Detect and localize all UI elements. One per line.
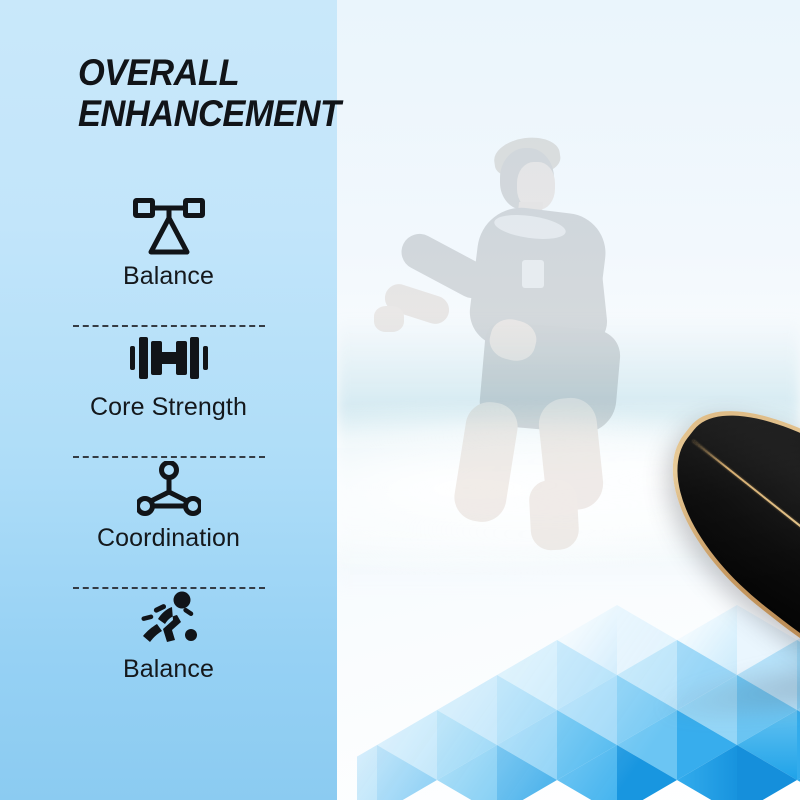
balance-board <box>637 355 800 755</box>
feature-item-core-strength: Core Strength <box>0 327 337 456</box>
surfer-left-hand <box>374 306 404 332</box>
left-info-panel: OVERALL ENHANCEMENT Balance <box>0 0 337 800</box>
title-line-2: ENHANCEMENT <box>78 93 311 134</box>
running-figure-icon <box>139 589 199 651</box>
feature-label: Balance <box>123 655 214 684</box>
molecule-node-icon <box>137 458 201 520</box>
page-title: OVERALL ENHANCEMENT <box>78 52 311 135</box>
feature-list: Balance Core St <box>0 196 337 718</box>
feature-item-coordination: Coordination <box>0 458 337 587</box>
surfer-left-leg <box>451 399 521 526</box>
feature-item-balance: Balance <box>0 196 337 325</box>
feature-label: Core Strength <box>90 393 247 422</box>
balance-scale-icon <box>132 196 206 258</box>
poster-canvas: OVERALL ENHANCEMENT Balance <box>0 0 800 800</box>
dumbbell-icon <box>130 327 208 389</box>
balance-board-product <box>637 355 800 775</box>
feature-label: Coordination <box>97 524 240 553</box>
title-line-1: OVERALL <box>78 52 311 93</box>
board-highlight <box>635 371 800 735</box>
feature-label: Balance <box>123 262 214 291</box>
surfer-shirt-logo <box>522 260 544 288</box>
product-photo-pane <box>337 0 800 800</box>
feature-item-balance-runner: Balance <box>0 589 337 718</box>
